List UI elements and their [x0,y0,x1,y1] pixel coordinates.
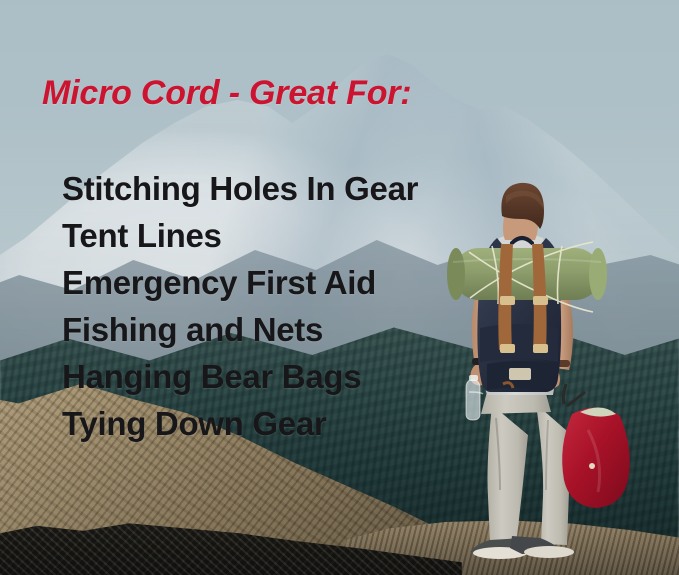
list-item: Emergency First Aid [62,259,532,306]
list-item: Tent Lines [62,212,532,259]
stuff-sack [562,384,630,508]
list-item: Hanging Bear Bags [62,353,532,400]
list-item: Tying Down Gear [62,400,532,447]
page-title: Micro Cord - Great For: [42,74,411,113]
list-item: Fishing and Nets [62,306,532,353]
uses-list: Stitching Holes In Gear Tent Lines Emerg… [62,165,532,447]
product-marketing-image: Micro Cord - Great For: Stitching Holes … [0,0,679,575]
list-item: Stitching Holes In Gear [62,165,532,212]
